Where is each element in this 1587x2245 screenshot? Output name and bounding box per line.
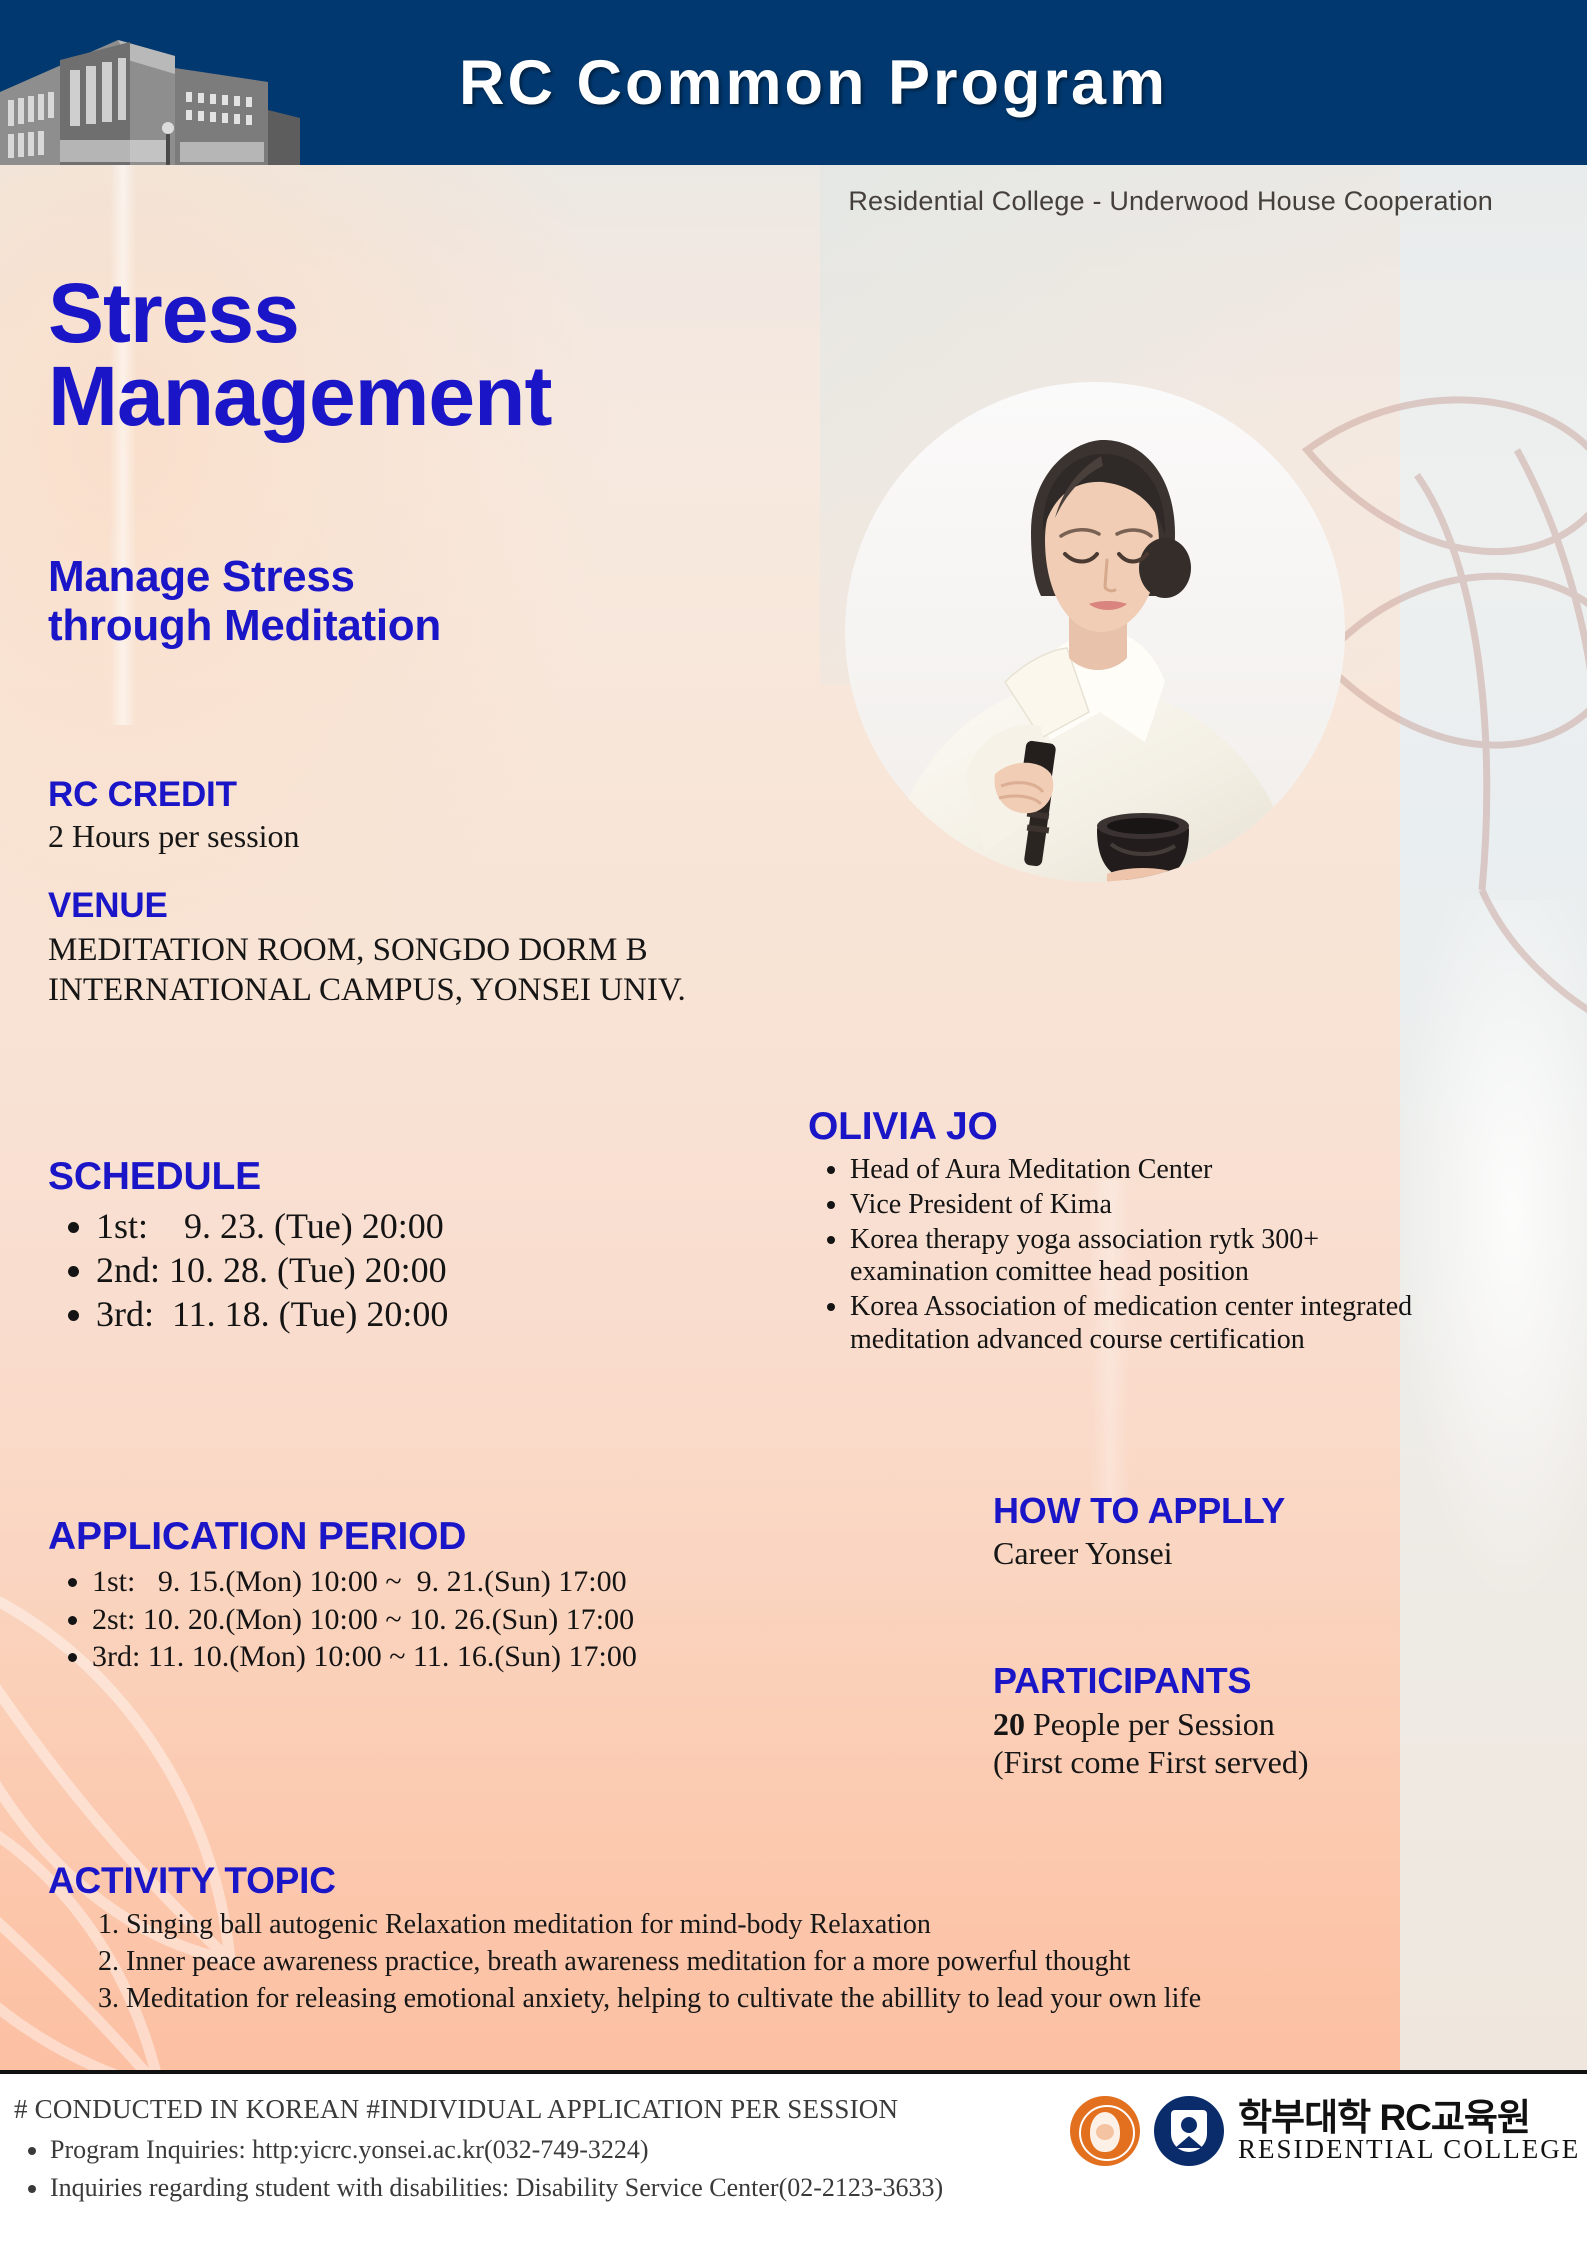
rc-credit-body: 2 Hours per session bbox=[48, 818, 300, 855]
speaker-block: OLIVIA JO Head of Aura Meditation Center… bbox=[808, 1105, 1448, 1359]
rc-credit-heading: RC CREDIT bbox=[48, 775, 300, 815]
list-item: Inquiries regarding student with disabil… bbox=[50, 2169, 1094, 2207]
speaker-name: OLIVIA JO bbox=[808, 1105, 1448, 1149]
list-item: Program Inquiries: http:yicrc.yonsei.ac.… bbox=[50, 2131, 1094, 2169]
cooperation-subtitle: Residential College - Underwood House Co… bbox=[0, 186, 1493, 217]
list-item: Vice President of Kima bbox=[850, 1189, 1448, 1222]
header-banner: RC Common Program bbox=[0, 0, 1587, 165]
schedule-list: 1st: 9. 23. (Tue) 20:00 2nd: 10. 28. (Tu… bbox=[48, 1205, 448, 1337]
speaker-credentials-list: Head of Aura Meditation Center Vice Pres… bbox=[808, 1154, 1448, 1357]
main-title-line2: Management bbox=[48, 355, 551, 438]
instructor-portrait bbox=[845, 382, 1345, 882]
list-item: 1st: 9. 23. (Tue) 20:00 bbox=[96, 1205, 448, 1249]
application-period-heading: APPLICATION PERIOD bbox=[48, 1515, 637, 1559]
activity-topic-heading: ACTIVITY TOPIC bbox=[48, 1860, 1548, 1902]
venue-heading: VENUE bbox=[48, 886, 686, 926]
footer-note: # CONDUCTED IN KOREAN #INDIVIDUAL APPLIC… bbox=[14, 2094, 1094, 2125]
footer-logos: 학부대학 RC교육원 RESIDENTIAL COLLEGE bbox=[1070, 2096, 1580, 2166]
venue-line1: MEDITATION ROOM, SONGDO DORM B bbox=[48, 930, 686, 970]
how-to-apply-heading: HOW TO APPLLY bbox=[993, 1490, 1285, 1532]
poster-root: RC Common Program Residential College - … bbox=[0, 0, 1587, 2245]
main-subtitle: Manage Stress through Meditation bbox=[48, 552, 441, 651]
footer: # CONDUCTED IN KOREAN #INDIVIDUAL APPLIC… bbox=[0, 2074, 1587, 2245]
list-item: Meditation for releasing emotional anxie… bbox=[126, 1980, 1548, 2017]
main-subtitle-line2: through Meditation bbox=[48, 601, 441, 650]
rc-logo-wordmark: 학부대학 RC교육원 RESIDENTIAL COLLEGE bbox=[1238, 2099, 1580, 2163]
yonsei-university-seal-icon bbox=[1154, 2096, 1224, 2166]
participants-unit: People per Session bbox=[1025, 1706, 1275, 1742]
rc-logo-english: RESIDENTIAL COLLEGE bbox=[1238, 2136, 1580, 2163]
venue-line2: INTERNATIONAL CAMPUS, YONSEI UNIV. bbox=[48, 970, 686, 1010]
list-item: Inner peace awareness practice, breath a… bbox=[126, 1943, 1548, 1980]
main-title: Stress Management bbox=[48, 272, 551, 438]
list-item: Singing ball autogenic Relaxation medita… bbox=[126, 1906, 1548, 1943]
activity-topic-block: ACTIVITY TOPIC Singing ball autogenic Re… bbox=[48, 1860, 1548, 2018]
underwood-house-seal-icon bbox=[1070, 2096, 1140, 2166]
application-period-block: APPLICATION PERIOD 1st: 9. 15.(Mon) 10:0… bbox=[48, 1515, 637, 1676]
page-title: RC Common Program bbox=[0, 0, 1587, 165]
list-item: Korea therapy yoga association rytk 300+… bbox=[850, 1224, 1448, 1290]
rc-logo-korean: 학부대학 RC교육원 bbox=[1238, 2099, 1580, 2136]
participants-heading: PARTICIPANTS bbox=[993, 1660, 1309, 1702]
schedule-block: SCHEDULE 1st: 9. 23. (Tue) 20:00 2nd: 10… bbox=[48, 1155, 448, 1337]
list-item: 1st: 9. 15.(Mon) 10:00 ~ 9. 21.(Sun) 17:… bbox=[92, 1563, 637, 1601]
schedule-heading: SCHEDULE bbox=[48, 1155, 448, 1199]
participants-block: PARTICIPANTS 20 People per Session (Firs… bbox=[993, 1660, 1309, 1782]
footer-contacts: Program Inquiries: http:yicrc.yonsei.ac.… bbox=[14, 2131, 1094, 2206]
footer-text: # CONDUCTED IN KOREAN #INDIVIDUAL APPLIC… bbox=[14, 2094, 1094, 2206]
list-item: 2nd: 10. 28. (Tue) 20:00 bbox=[96, 1249, 448, 1293]
main-title-line1: Stress bbox=[48, 266, 299, 360]
list-item: 2st: 10. 20.(Mon) 10:00 ~ 10. 26.(Sun) 1… bbox=[92, 1601, 637, 1639]
rc-credit-block: RC CREDIT 2 Hours per session bbox=[48, 775, 300, 855]
how-to-apply-block: HOW TO APPLLY Career Yonsei bbox=[993, 1490, 1285, 1572]
list-item: Head of Aura Meditation Center bbox=[850, 1154, 1448, 1187]
how-to-apply-body: Career Yonsei bbox=[993, 1535, 1285, 1572]
main-subtitle-line1: Manage Stress bbox=[48, 552, 441, 601]
participants-note: (First come First served) bbox=[993, 1743, 1309, 1781]
list-item: Korea Association of medication center i… bbox=[850, 1291, 1448, 1357]
list-item: 3rd: 11. 18. (Tue) 20:00 bbox=[96, 1293, 448, 1337]
list-item: 3rd: 11. 10.(Mon) 10:00 ~ 11. 16.(Sun) 1… bbox=[92, 1638, 637, 1676]
activity-topic-list: Singing ball autogenic Relaxation medita… bbox=[48, 1906, 1548, 2018]
participants-count: 20 bbox=[993, 1706, 1025, 1742]
application-period-list: 1st: 9. 15.(Mon) 10:00 ~ 9. 21.(Sun) 17:… bbox=[48, 1563, 637, 1676]
venue-block: VENUE MEDITATION ROOM, SONGDO DORM B INT… bbox=[48, 886, 686, 1011]
